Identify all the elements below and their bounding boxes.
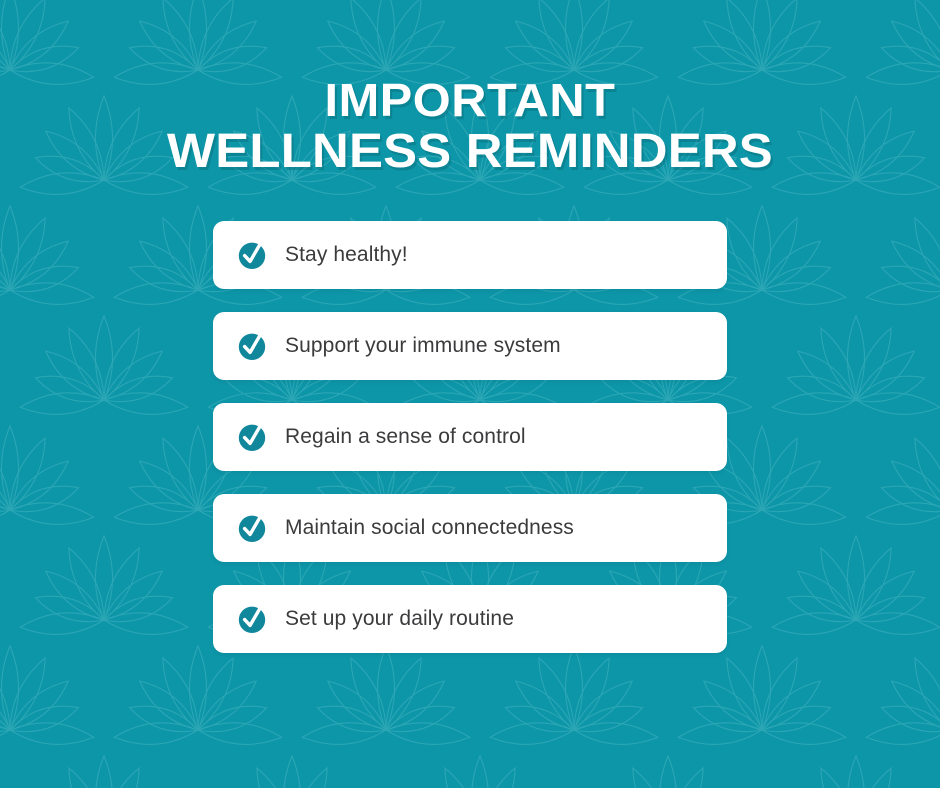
reminder-card[interactable]: Support your immune system bbox=[213, 312, 727, 380]
lotus-flower-icon bbox=[662, 0, 862, 82]
reminder-label: Stay healthy! bbox=[285, 242, 408, 268]
page-title-line-2: WELLNESS REMINDERS bbox=[0, 126, 940, 178]
reminder-label: Support your immune system bbox=[285, 333, 561, 359]
check-circle-icon bbox=[236, 330, 268, 362]
reminder-card[interactable]: Set up your daily routine bbox=[213, 585, 727, 653]
reminder-label: Maintain social connectedness bbox=[285, 515, 574, 541]
lotus-flower-icon bbox=[4, 304, 204, 412]
lotus-flower-icon bbox=[756, 524, 940, 632]
reminder-label: Set up your daily routine bbox=[285, 606, 514, 632]
lotus-flower-icon bbox=[0, 194, 110, 302]
lotus-flower-icon bbox=[4, 744, 204, 788]
check-circle-icon bbox=[236, 421, 268, 453]
lotus-flower-icon bbox=[0, 634, 110, 742]
lotus-flower-icon bbox=[4, 524, 204, 632]
check-circle-icon bbox=[236, 603, 268, 635]
lotus-flower-icon bbox=[192, 744, 392, 788]
page-title-line-1: IMPORTANT bbox=[0, 74, 940, 126]
check-circle-icon bbox=[236, 239, 268, 271]
lotus-flower-icon bbox=[850, 0, 940, 82]
lotus-flower-icon bbox=[0, 744, 16, 788]
lotus-flower-icon bbox=[850, 634, 940, 742]
lotus-flower-icon bbox=[0, 0, 110, 82]
lotus-flower-icon bbox=[380, 744, 580, 788]
lotus-flower-icon bbox=[756, 304, 940, 412]
reminder-card[interactable]: Maintain social connectedness bbox=[213, 494, 727, 562]
lotus-flower-icon bbox=[850, 194, 940, 302]
lotus-flower-icon bbox=[0, 304, 16, 412]
lotus-flower-icon bbox=[756, 744, 940, 788]
lotus-flower-icon bbox=[568, 744, 768, 788]
lotus-flower-icon bbox=[98, 0, 298, 82]
lotus-flower-icon bbox=[286, 0, 486, 82]
wellness-reminders-poster: IMPORTANT WELLNESS REMINDERS Stay health… bbox=[0, 0, 940, 788]
reminder-card[interactable]: Stay healthy! bbox=[213, 221, 727, 289]
check-circle-icon bbox=[236, 512, 268, 544]
reminder-card[interactable]: Regain a sense of control bbox=[213, 403, 727, 471]
reminder-label: Regain a sense of control bbox=[285, 424, 526, 450]
lotus-flower-icon bbox=[0, 414, 110, 522]
lotus-flower-icon bbox=[0, 524, 16, 632]
lotus-flower-icon bbox=[850, 414, 940, 522]
page-title: IMPORTANT WELLNESS REMINDERS bbox=[0, 74, 940, 178]
lotus-flower-icon bbox=[474, 0, 674, 82]
reminders-list: Stay healthy!Support your immune systemR… bbox=[213, 221, 727, 653]
